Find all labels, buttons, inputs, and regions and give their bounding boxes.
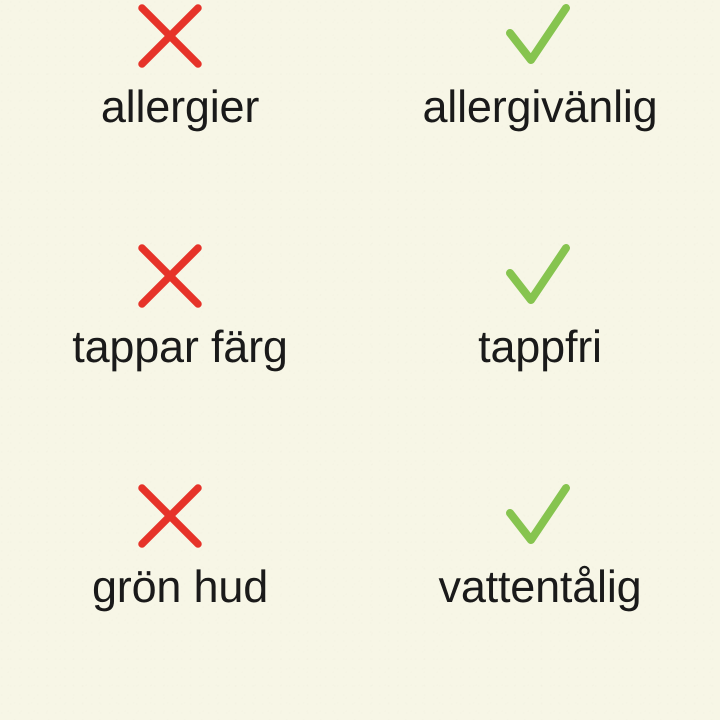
feature-label: allergivänlig [422,84,657,131]
comparison-cell-negative-3: grön hud [0,480,360,720]
comparison-cell-negative-1: allergier [0,0,360,240]
comparison-board: allergier allergivänlig tappar färg [0,0,720,720]
comparison-cell-positive-3: vattentålig [360,480,720,720]
check-icon [502,480,574,552]
feature-label: tappar färg [72,324,287,371]
comparison-cell-positive-2: tappfri [360,240,720,480]
check-icon [502,240,574,312]
feature-label: allergier [101,84,259,131]
feature-label: grön hud [92,564,268,611]
cross-icon [134,240,206,312]
comparison-cell-positive-1: allergivänlig [360,0,720,240]
comparison-grid: allergier allergivänlig tappar färg [0,0,720,720]
feature-label: tappfri [478,324,602,371]
cross-icon [134,0,206,72]
feature-label: vattentålig [439,564,642,611]
cross-icon [134,480,206,552]
check-icon [502,0,574,72]
comparison-cell-negative-2: tappar färg [0,240,360,480]
